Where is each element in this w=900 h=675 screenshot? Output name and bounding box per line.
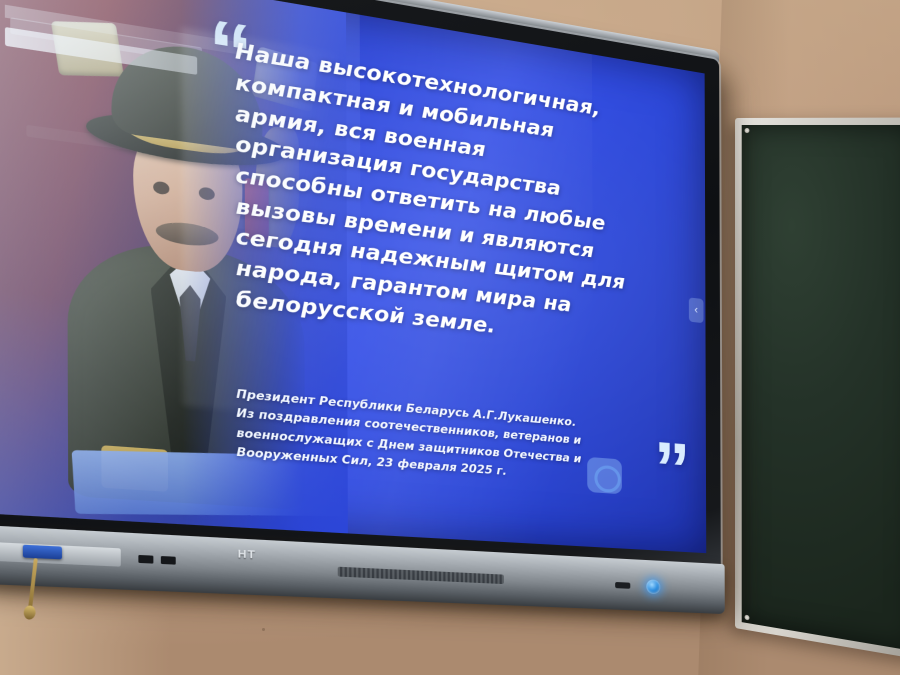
figure-epaulette-left [51, 21, 124, 77]
display-screen[interactable]: “ ” Наша высокотехнологичная, компактная… [0, 0, 706, 553]
classroom-scene: “ ” Наша высокотехнологичная, компактная… [0, 0, 900, 675]
power-led-indicator[interactable] [646, 579, 660, 594]
brand-logo: HT [238, 549, 256, 562]
interactive-flat-panel[interactable]: “ ” Наша высокотехнологичная, компактная… [0, 0, 721, 600]
chalkboard-frame [735, 118, 900, 661]
wall-speck [262, 628, 265, 631]
usb-port[interactable] [161, 556, 176, 565]
connected-cable-plug[interactable] [23, 545, 62, 560]
chalkboard [735, 118, 900, 661]
display-bezel: “ ” Наша высокотехнологичная, компактная… [0, 0, 721, 600]
chalkboard-screw [745, 128, 750, 133]
chalkboard-screw [745, 615, 750, 621]
slide-quote-text: Наша высокотехнологичная, компактная и м… [235, 36, 675, 359]
chalkboard-surface [742, 125, 900, 651]
speaker-grille [338, 567, 504, 584]
chevron-left-icon[interactable]: ‹ [689, 297, 704, 323]
ir-receiver [615, 582, 630, 589]
usb-port[interactable] [138, 555, 153, 564]
